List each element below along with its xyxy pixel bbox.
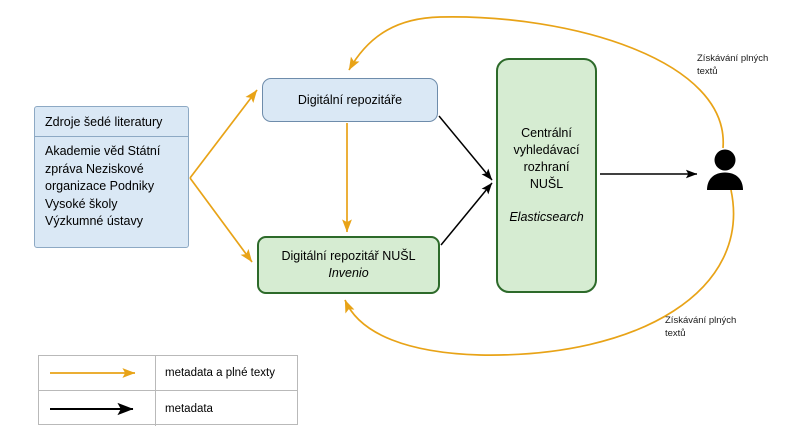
edge-label-fulltext-top: Získávání plných textů bbox=[697, 53, 793, 78]
arrow-right-icon bbox=[47, 365, 147, 381]
central-interface-software: Elasticsearch bbox=[509, 209, 583, 226]
nusl-repository-label: Digitální repozitář NUŠL bbox=[281, 248, 415, 265]
central-interface-line-3: rozhraní bbox=[524, 159, 570, 176]
central-interface-line-4: NUŠL bbox=[530, 176, 563, 193]
sources-title: Zdroje šedé literatury bbox=[35, 107, 188, 137]
edge-sources-to-repos bbox=[190, 90, 257, 178]
sources-list: Akademie věd Státní zpráva Neziskové org… bbox=[35, 137, 188, 237]
central-interface-line-2: vyhledávací bbox=[513, 142, 579, 159]
legend-swatch-metadata bbox=[39, 391, 156, 426]
edge-nusl-to-central bbox=[441, 183, 492, 245]
digital-repositories-box: Digitální repozitáře bbox=[262, 78, 438, 122]
sources-box: Zdroje šedé literatury Akademie věd Stát… bbox=[34, 106, 189, 248]
edge-repos-to-central bbox=[439, 116, 492, 180]
central-search-interface-box: Centrální vyhledávací rozhraní NUŠL Elas… bbox=[496, 58, 597, 293]
edge-sources-to-nusl bbox=[190, 178, 252, 262]
nusl-repository-software: Invenio bbox=[328, 265, 368, 282]
legend-row: metadata a plné texty bbox=[39, 356, 297, 391]
legend-label-metadata: metadata bbox=[156, 391, 297, 426]
person-icon bbox=[701, 146, 749, 194]
legend-swatch-metadata-fulltext bbox=[39, 356, 156, 390]
legend-row: metadata bbox=[39, 391, 297, 426]
diagram-canvas: Zdroje šedé literatury Akademie věd Stát… bbox=[0, 0, 800, 446]
central-interface-line-1: Centrální bbox=[521, 125, 572, 142]
legend-label-metadata-fulltext: metadata a plné texty bbox=[156, 356, 297, 390]
legend: metadata a plné texty metadata bbox=[38, 355, 298, 425]
edge-label-fulltext-bottom: Získávání plných textů bbox=[665, 315, 761, 340]
digital-repositories-label: Digitální repozitáře bbox=[298, 93, 402, 107]
nusl-repository-box: Digitální repozitář NUŠL Invenio bbox=[257, 236, 440, 294]
arrow-right-icon bbox=[47, 401, 147, 417]
